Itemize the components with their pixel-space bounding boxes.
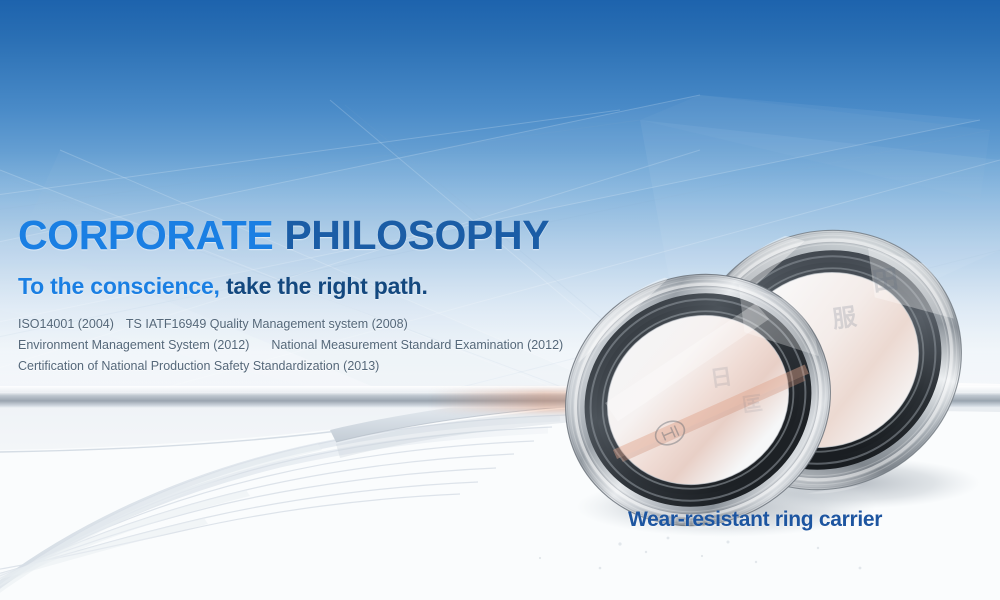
subtitle-part-conscience: To the conscience, (18, 273, 220, 299)
headline-word-corporate: CORPORATE (18, 212, 273, 258)
certification-list: ISO14001 (2004)TS IATF16949 Quality Mana… (18, 314, 618, 377)
product-caption: Wear-resistant ring carrier (628, 508, 882, 532)
certification-item: Environment Management System (2012) (18, 338, 249, 352)
certification-line-2: Environment Management System (2012)Nati… (18, 335, 618, 356)
corporate-philosophy-banner: 田 服 日 匡 CORPORATE PHILOSOPHY To the cons… (0, 0, 1000, 600)
certification-item: National Measurement Standard Examinatio… (271, 338, 563, 352)
certification-item: ISO14001 (2004) (18, 317, 114, 331)
subtitle: To the conscience, take the right path. (18, 272, 618, 300)
certification-item: Certification of National Production Saf… (18, 359, 379, 373)
certification-item: TS IATF16949 Quality Management system (… (126, 317, 408, 331)
certification-line-1: ISO14001 (2004)TS IATF16949 Quality Mana… (18, 314, 618, 335)
headline-space (273, 212, 284, 258)
page-title: CORPORATE PHILOSOPHY (18, 212, 618, 258)
headline-text-block: CORPORATE PHILOSOPHY To the conscience, … (18, 212, 618, 377)
certification-line-3: Certification of National Production Saf… (18, 356, 618, 377)
headline-word-philosophy: PHILOSOPHY (284, 212, 549, 258)
subtitle-part-right-path: take the right path. (226, 273, 428, 299)
